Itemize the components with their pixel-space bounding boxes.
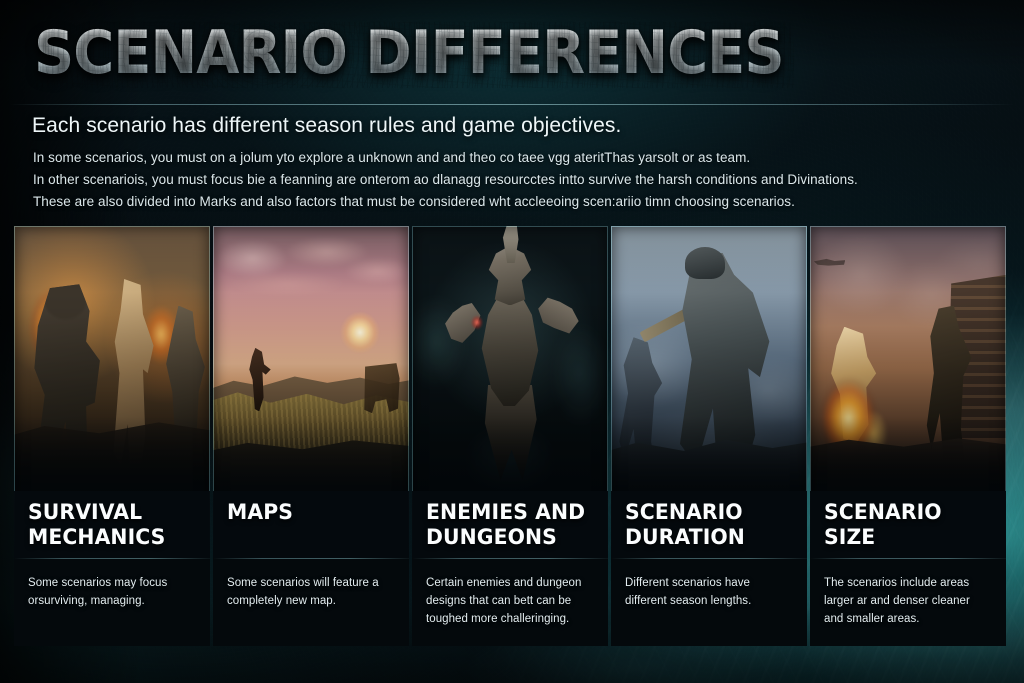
header-divider — [10, 104, 1014, 105]
card-description: Some scenarios will feature a completely… — [213, 558, 409, 610]
card-title: SCENARIOSIZE — [824, 500, 989, 550]
scenario-card-scenario-size[interactable]: SCENARIOSIZE The scenarios include areas… — [810, 226, 1006, 646]
scenario-card-enemies-and-dungeons[interactable]: ENEMIES ANDDUNGEONS Certain enemies and … — [412, 226, 608, 646]
card-title-block: MAPS — [213, 491, 409, 558]
art-shade-overlay — [611, 226, 807, 491]
card-description: Certain enemies and dungeon designs that… — [412, 558, 608, 628]
intro-line-3: These are also divided into Marks and al… — [33, 191, 858, 213]
soldiers-in-fog-artwork — [611, 226, 807, 491]
page-subtitle: Each scenario has different season rules… — [32, 114, 621, 138]
scenario-card-scenario-duration[interactable]: SCENARIODURATION Different scenarios hav… — [611, 226, 807, 646]
intro-line-2: In other scenariois, you must focus bie … — [33, 169, 858, 191]
card-description: Different scenarios have different seaso… — [611, 558, 807, 610]
card-title-block: SCENARIODURATION — [611, 491, 807, 558]
burning-city-artwork — [810, 226, 1006, 491]
art-shade-overlay — [14, 226, 210, 491]
card-title: SURVIVALMECHANICS — [28, 500, 193, 550]
card-title: ENEMIES ANDDUNGEONS — [426, 500, 591, 550]
card-description: The scenarios include areas larger ar an… — [810, 558, 1006, 628]
sunset-plains-artwork — [213, 226, 409, 491]
dark-creature-artwork — [412, 226, 608, 491]
art-shade-overlay — [213, 226, 409, 491]
survivors-firelight-artwork — [14, 226, 210, 491]
card-title: SCENARIODURATION — [625, 500, 790, 550]
scenario-card-list: SURVIVALMECHANICS Some scenarios may foc… — [14, 226, 1010, 646]
scenario-card-maps[interactable]: MAPS Some scenarios will feature a compl… — [213, 226, 409, 646]
card-title: MAPS — [227, 500, 392, 525]
art-shade-overlay — [810, 226, 1006, 491]
intro-line-1: In some scenarios, you must on a jolum y… — [33, 147, 858, 169]
art-shade-overlay — [412, 226, 608, 491]
card-title-block: ENEMIES ANDDUNGEONS — [412, 491, 608, 558]
card-title-block: SURVIVALMECHANICS — [14, 491, 210, 558]
page-title: SCENARIO DIFFERENCES — [34, 22, 784, 84]
intro-paragraph: In some scenarios, you must on a jolum y… — [33, 147, 858, 213]
card-title-block: SCENARIOSIZE — [810, 491, 1006, 558]
scenario-card-survival-mechanics[interactable]: SURVIVALMECHANICS Some scenarios may foc… — [14, 226, 210, 646]
infographic-canvas: SCENARIO DIFFERENCES Each scenario has d… — [0, 0, 1024, 683]
card-description: Some scenarios may focus orsurviving, ma… — [14, 558, 210, 610]
